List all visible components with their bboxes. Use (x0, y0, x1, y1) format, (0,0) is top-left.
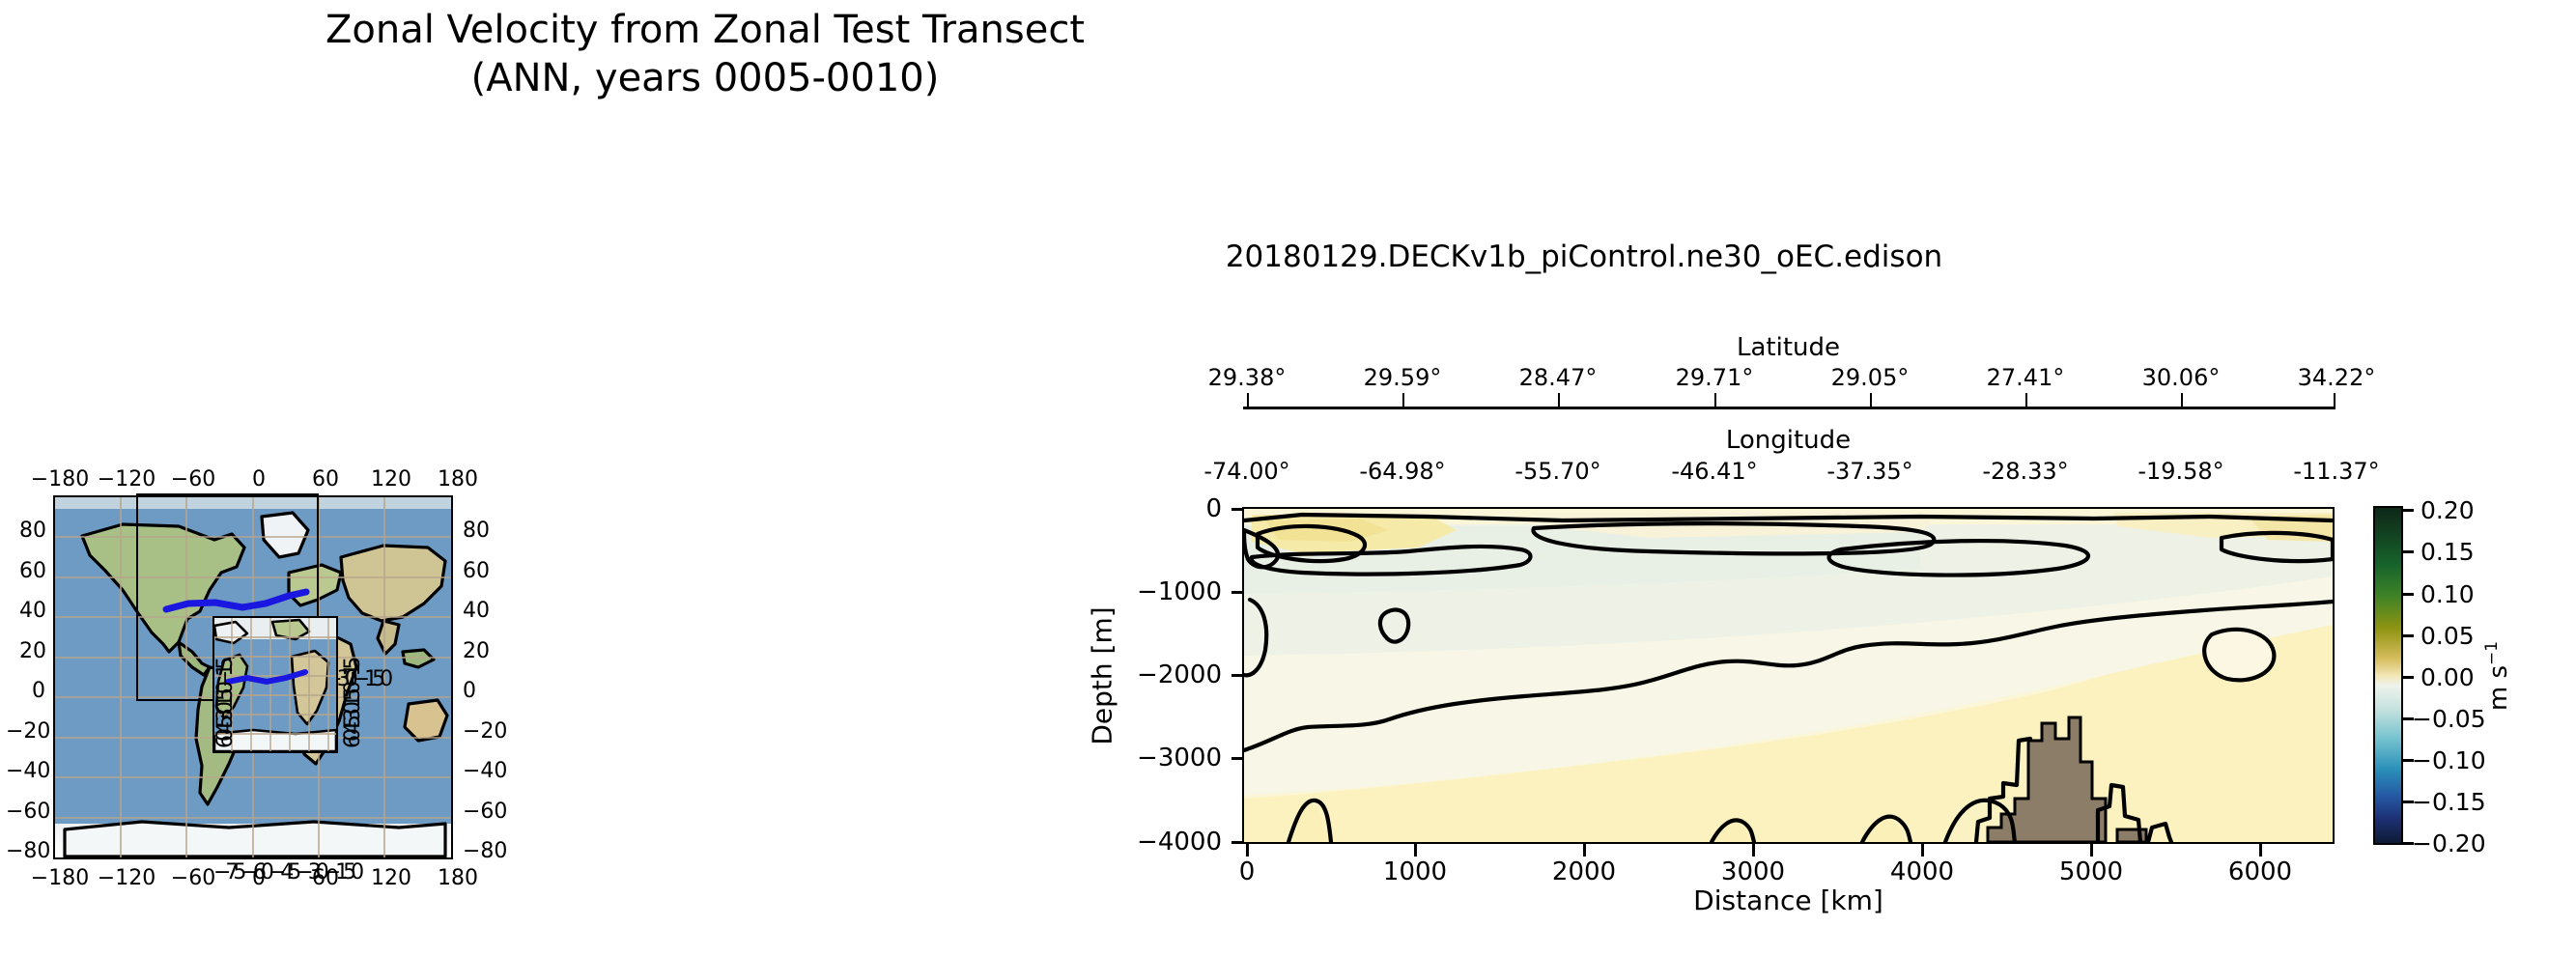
lon-tick-1: -64.98° (1335, 458, 1470, 485)
map-xtick-bot-6: 180 (414, 866, 501, 890)
transect-contour-plot (1242, 507, 2335, 844)
distance-tick-6: 6000 (2202, 857, 2318, 886)
map-ytick-left-2: 40 (19, 599, 46, 623)
map-ytick-right-7: −60 (463, 800, 507, 824)
distance-tick-1: 1000 (1357, 857, 1473, 886)
map-ytick-left-3: 20 (19, 639, 46, 663)
map-ytick-right-6: −40 (463, 759, 507, 783)
figure-title-line2: (ANN, years 0005-0010) (0, 54, 1410, 102)
cb-tick-0: 0.20 (2420, 496, 2475, 524)
cb-tick-2: 0.10 (2420, 580, 2475, 608)
depth-tick-4: −4000 (1096, 828, 1222, 857)
colorbar-unit-exponent: −1 (2482, 641, 2502, 665)
map-xtick-top-6: 180 (414, 467, 501, 492)
lon-tick-7: -11.37° (2269, 458, 2404, 485)
colorbar-unit-base: m s (2484, 665, 2513, 711)
map-ytick-left-5: −20 (6, 719, 50, 744)
figure-title: Zonal Velocity from Zonal Test Transect … (0, 6, 1410, 102)
map-ytick-right-4: 0 (463, 679, 476, 703)
map-ytick-left-6: −40 (6, 759, 50, 783)
lon-tick-4: -37.35° (1802, 458, 1938, 485)
lon-tick-5: -28.33° (1958, 458, 2093, 485)
map-ytick-right-0: 80 (463, 519, 490, 543)
distance-tick-2: 2000 (1526, 857, 1642, 886)
contour-field (1244, 509, 2333, 842)
distance-tick-0: 0 (1189, 857, 1305, 886)
map-ytick-left-7: −60 (6, 800, 50, 824)
map-ytick-left-1: 60 (19, 559, 46, 583)
depth-axis-label: Depth [m] (1087, 606, 1118, 744)
map-ytick-left-8: −80 (6, 839, 50, 863)
latitude-axis-line (1243, 407, 2335, 409)
longitude-axis-label: Longitude (1241, 426, 2335, 455)
cb-tick-7: −0.15 (2412, 788, 2486, 816)
panel-subtitle: 20180129.DECKv1b_piControl.ne30_oEC.edis… (1140, 239, 2028, 274)
lat-tick-2: 28.47° (1490, 364, 1626, 391)
lon-tick-0: -74.00° (1179, 458, 1315, 485)
figure-title-line1: Zonal Velocity from Zonal Test Transect (0, 6, 1410, 54)
distance-tick-5: 5000 (2033, 857, 2149, 886)
cb-tick-3: 0.05 (2420, 622, 2475, 650)
lat-tick-0: 29.38° (1179, 364, 1315, 391)
map-ytick-right-2: 40 (463, 599, 490, 623)
lat-tick-4: 29.05° (1802, 364, 1938, 391)
map-inset-clutter-y-left: 60453015 0−15 (213, 663, 238, 748)
map-ytick-right-8: −80 (463, 839, 507, 863)
depth-tick-3: −3000 (1096, 744, 1222, 772)
lat-tick-1: 29.59° (1335, 364, 1470, 391)
cb-tick-4: 0.00 (2420, 663, 2475, 691)
map-ytick-right-3: 20 (463, 639, 490, 663)
map-ytick-right-5: −20 (463, 719, 507, 744)
latitude-axis-label: Latitude (1241, 333, 2335, 362)
lat-tick-3: 29.71° (1647, 364, 1782, 391)
lon-tick-6: -19.58° (2113, 458, 2249, 485)
depth-tick-0: 0 (1096, 494, 1222, 523)
colorbar (2373, 506, 2403, 845)
depth-tick-1: −1000 (1096, 577, 1222, 606)
map-ytick-left-4: 0 (32, 679, 45, 703)
map-ytick-left-0: 80 (19, 519, 46, 543)
map-ytick-right-1: 60 (463, 559, 490, 583)
distance-tick-4: 4000 (1864, 857, 1980, 886)
map-inset-clutter-y-right: 60453015 0−15 (341, 663, 365, 748)
distance-tick-3: 3000 (1695, 857, 1811, 886)
cb-tick-1: 0.15 (2420, 538, 2475, 566)
lon-tick-3: -46.41° (1647, 458, 1782, 485)
colorbar-unit-label: m s−1 (2482, 641, 2513, 711)
cb-tick-5: −0.05 (2412, 705, 2486, 733)
distance-axis-label: Distance [km] (1242, 885, 2335, 916)
cb-tick-8: −0.20 (2412, 829, 2486, 857)
cb-tick-6: −0.10 (2412, 746, 2486, 774)
lon-tick-2: -55.70° (1490, 458, 1626, 485)
lat-tick-5: 27.41° (1958, 364, 2093, 391)
world-map-inset: −75−60−45−30−150 60453015 (53, 495, 453, 859)
lat-tick-6: 30.06° (2113, 364, 2249, 391)
lat-tick-7: 34.22° (2269, 364, 2404, 391)
